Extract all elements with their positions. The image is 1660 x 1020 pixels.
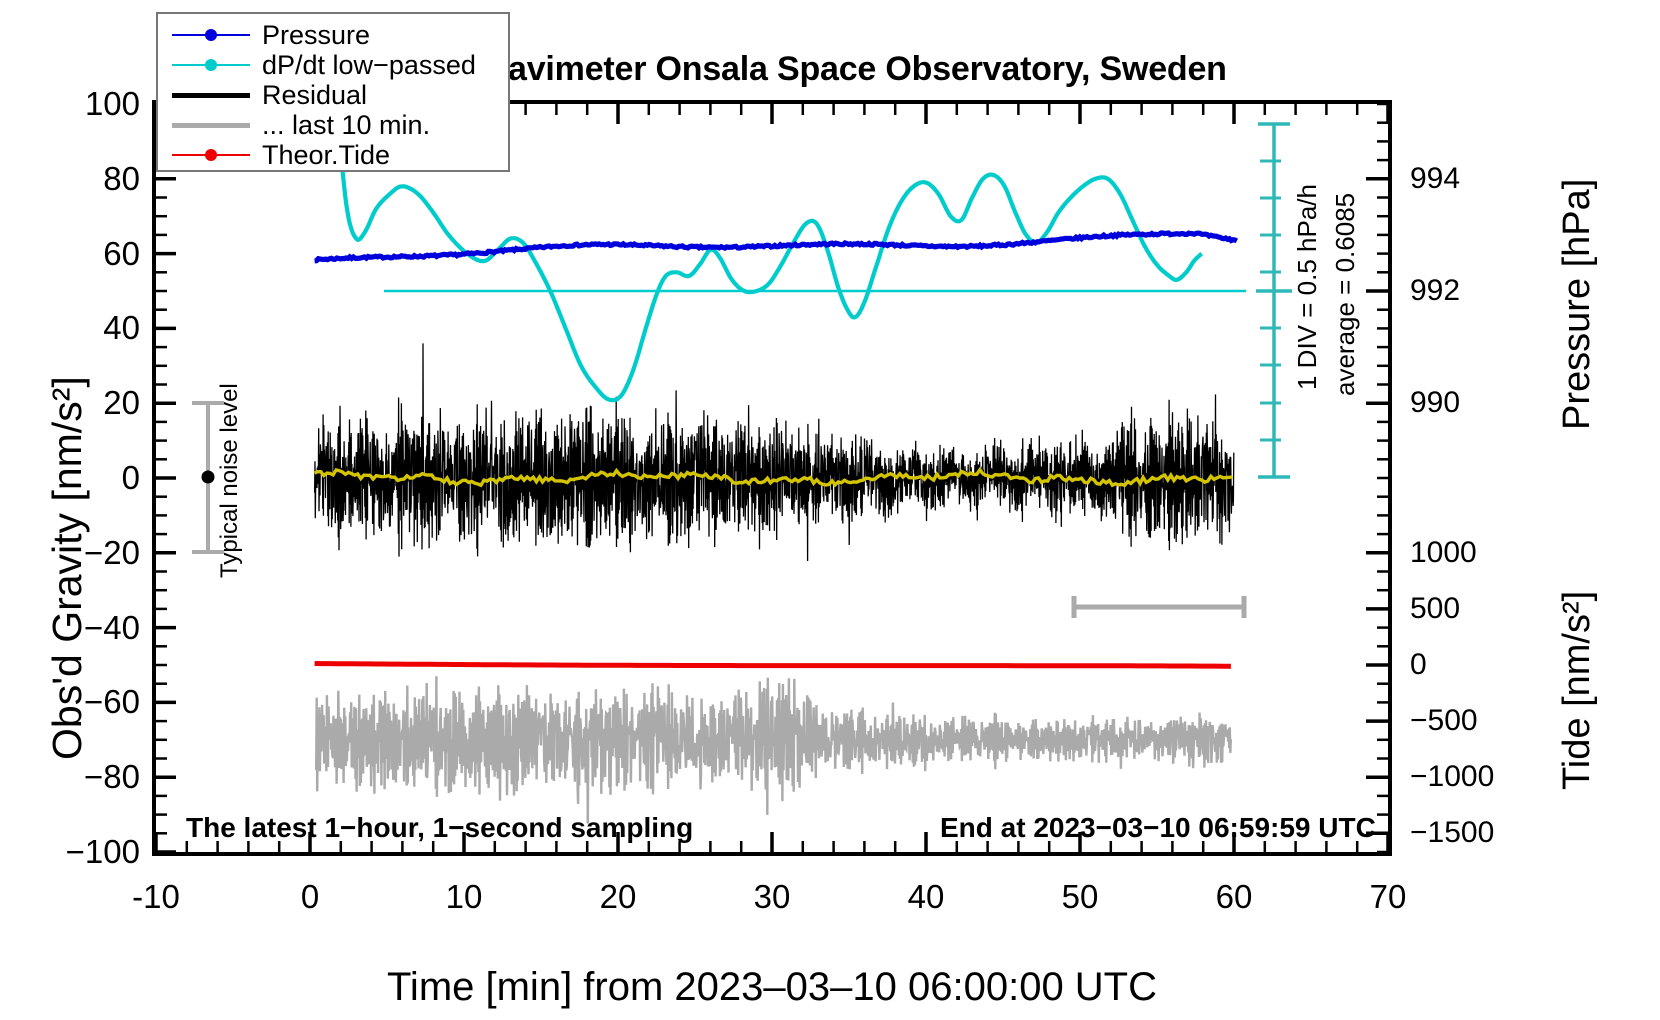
x-tick-label: 30 — [712, 880, 832, 913]
right-tick-label: −1500 — [1410, 818, 1530, 848]
x-tick-label: 60 — [1174, 880, 1294, 913]
legend-item-dpdt[interactable]: dP/dt low−passed — [172, 50, 508, 80]
legend-item-theor-tide[interactable]: Theor.Tide — [172, 140, 508, 170]
chart-page: SCG_054 gravimeter Onsala Space Observat… — [0, 0, 1660, 1020]
x-tick-label: 0 — [250, 880, 370, 913]
y-axis-title-pressure: Pressure [hPa] — [1556, 179, 1599, 430]
right-tick-label: −1000 — [1410, 762, 1530, 792]
x-tick-label: 70 — [1328, 880, 1448, 913]
dpdt-average-note: average = 0.6085 — [1330, 193, 1361, 396]
right-tick-label: −500 — [1410, 706, 1530, 736]
legend-key-last-10-min — [172, 110, 250, 140]
y-axis-title-gravity: Obs'd Gravity [nm/s²] — [44, 376, 91, 760]
legend-key-dpdt — [172, 50, 250, 80]
end-time-note: End at 2023−03−10 06:59:59 UTC — [940, 812, 1376, 844]
right-tick-label: 992 — [1410, 276, 1530, 306]
right-tick-label: 1000 — [1410, 538, 1530, 568]
legend: Pressure dP/dt low−passed Residual ... l… — [156, 12, 510, 172]
latest-sampling-note: The latest 1−hour, 1−second sampling — [186, 812, 693, 844]
legend-label-residual: Residual — [262, 82, 367, 109]
x-tick-label: -10 — [96, 880, 216, 913]
legend-label-last-10-min: ... last 10 min. — [262, 112, 430, 139]
legend-label-dpdt: dP/dt low−passed — [262, 52, 476, 79]
x-tick-label: 40 — [866, 880, 986, 913]
legend-key-pressure — [172, 20, 250, 50]
right-tick-label: 990 — [1410, 388, 1530, 418]
y-axis-title-tide: Tide [nm/s²] — [1556, 591, 1599, 790]
legend-label-pressure: Pressure — [262, 22, 370, 49]
legend-key-residual — [172, 80, 250, 110]
legend-key-theor-tide — [172, 140, 250, 170]
right-tick-label: 994 — [1410, 164, 1530, 194]
x-tick-label: 20 — [558, 880, 678, 913]
legend-item-last-10-min[interactable]: ... last 10 min. — [172, 110, 508, 140]
dpdt-scale-division-note: 1 DIV = 0.5 hPa/h — [1292, 184, 1323, 390]
x-tick-label: 10 — [404, 880, 524, 913]
right-tick-label: 0 — [1410, 650, 1530, 680]
typical-noise-level-label: Typical noise level — [216, 383, 244, 578]
legend-item-residual[interactable]: Residual — [172, 80, 508, 110]
x-axis-title: Time [min] from 2023‒03‒10 06:00:00 UTC — [152, 965, 1392, 1010]
x-tick-label: 50 — [1020, 880, 1140, 913]
right-tick-label: 500 — [1410, 594, 1530, 624]
legend-item-pressure[interactable]: Pressure — [172, 20, 508, 50]
legend-label-theor-tide: Theor.Tide — [262, 142, 390, 169]
